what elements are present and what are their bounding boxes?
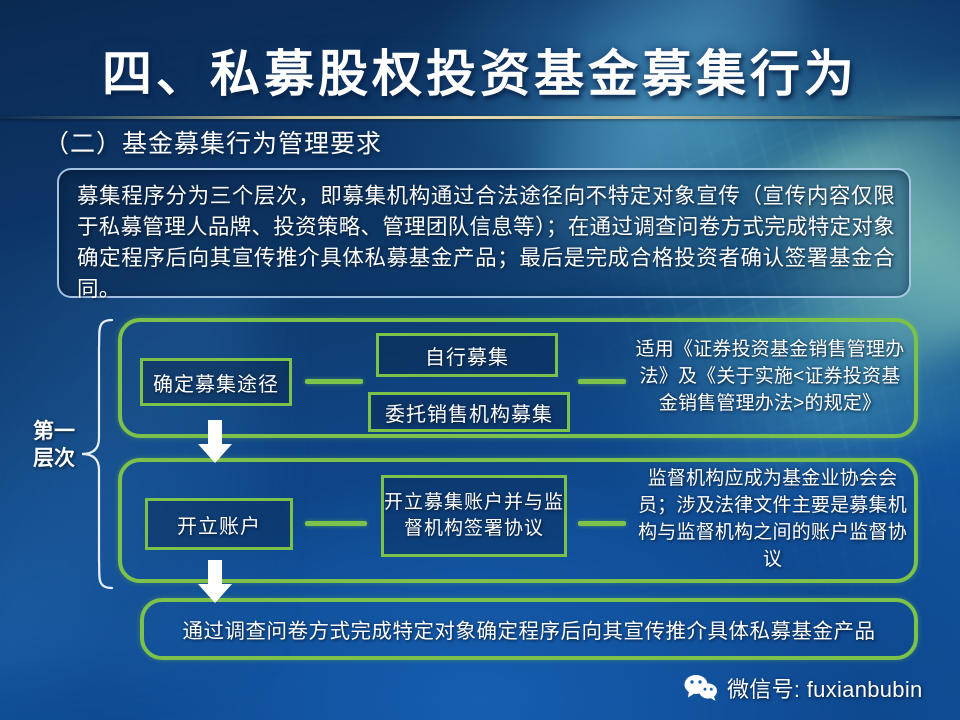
- node-open-account[interactable]: 开立账户: [145, 498, 293, 550]
- slide-canvas: 四、私募股权投资基金募集行为 （二）基金募集行为管理要求 募集程序分为三个层次，…: [0, 0, 960, 720]
- tier-brace-icon: [78, 318, 118, 590]
- tier-label-line1: 第一: [24, 418, 84, 445]
- summary-callout: 募集程序分为三个层次，即募集机构通过合法途径向不特定对象宣传（宣传内容仅限于私募…: [57, 168, 911, 298]
- connector-line: [578, 379, 626, 384]
- watermark: 微信号: fuxianbubin: [684, 672, 923, 704]
- slide-subtitle: （二）基金募集行为管理要求: [44, 124, 382, 160]
- summary-paragraph: 募集程序分为三个层次，即募集机构通过合法途径向不特定对象宣传（宣传内容仅限于私募…: [77, 181, 895, 305]
- slide-title: 四、私募股权投资基金募集行为: [0, 34, 960, 106]
- connector-line: [305, 521, 367, 526]
- node-entrusted-sales[interactable]: 委托销售机构募集: [368, 392, 570, 432]
- node-questionnaire-process[interactable]: 通过调查问卷方式完成特定对象确定程序后向其宣传推介具体私募基金产品: [140, 598, 918, 660]
- title-divider: [0, 116, 960, 119]
- connector-line: [305, 379, 363, 384]
- tier-label: 第一 层次: [24, 418, 84, 472]
- wechat-icon: [684, 674, 718, 702]
- node-sign-supervision-agreement[interactable]: 开立募集账户并与监督机构签署协议: [381, 475, 567, 557]
- tier-label-line2: 层次: [24, 445, 84, 472]
- note-row1: 适用《证券投资基金销售管理办法》及《关于实施<证券投资基金销售管理办法>的规定》: [630, 336, 910, 417]
- watermark-text: 微信号: fuxianbubin: [727, 672, 923, 704]
- node-determine-channel[interactable]: 确定募集途径: [140, 358, 292, 406]
- node-self-raise[interactable]: 自行募集: [376, 333, 558, 377]
- connector-line: [578, 521, 626, 526]
- note-row2: 监督机构应成为基金业协会会员；涉及法律文件主要是募集机构与监督机构之间的账户监督…: [630, 465, 915, 573]
- down-arrow-icon: [196, 420, 234, 464]
